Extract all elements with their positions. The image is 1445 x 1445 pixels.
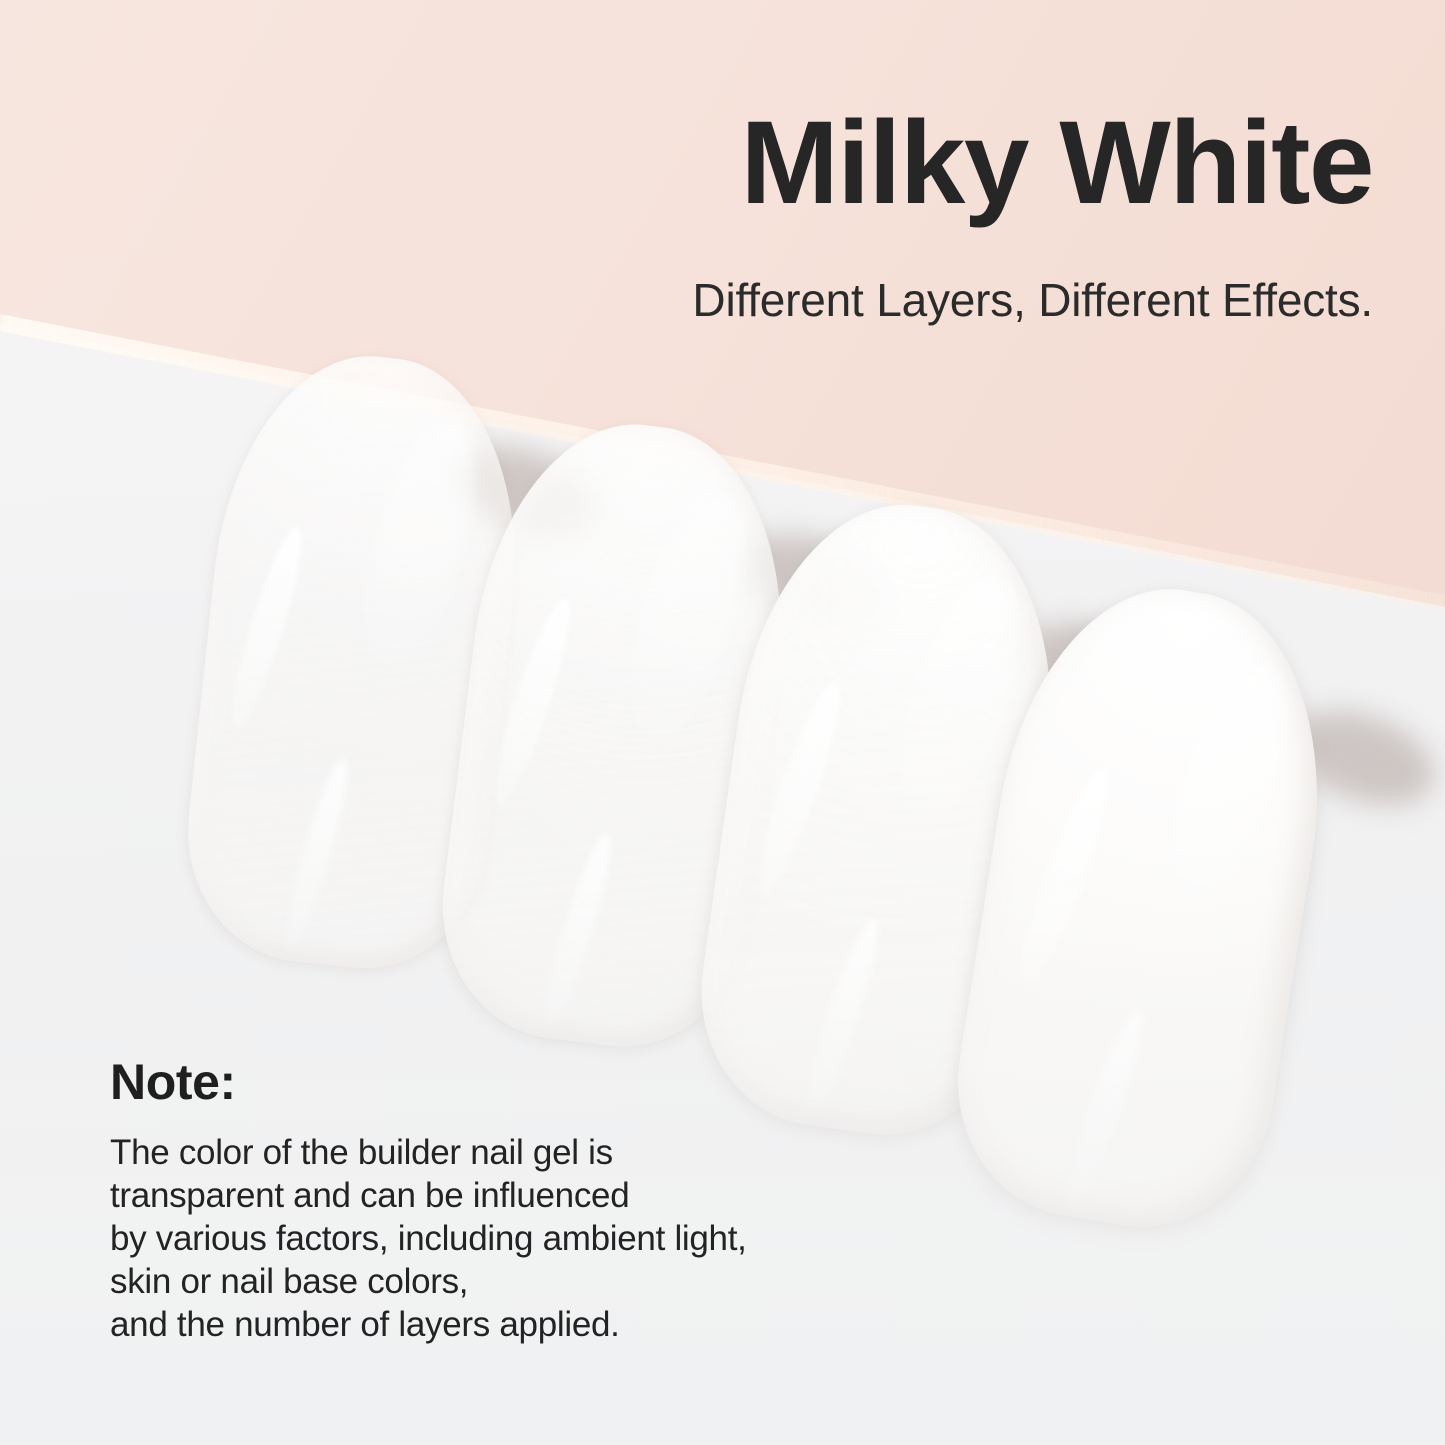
note-line: The color of the builder nail gel is xyxy=(110,1131,990,1174)
note-line: skin or nail base colors, xyxy=(110,1260,990,1303)
note-line: transparent and can be influenced xyxy=(110,1174,990,1217)
note-body-lines: The color of the builder nail gel is tra… xyxy=(110,1131,990,1346)
page-title: Milky White xyxy=(0,104,1373,222)
note-line: and the number of layers applied. xyxy=(110,1303,990,1346)
note-heading: Note: xyxy=(110,1056,990,1109)
page-subtitle: Different Layers, Different Effects. xyxy=(0,277,1373,323)
note-line: by various factors, including ambient li… xyxy=(110,1217,990,1260)
note-block: Note: The color of the builder nail gel … xyxy=(110,1056,990,1346)
product-graphic-canvas: Milky White Different Layers, Different … xyxy=(0,0,1445,1445)
